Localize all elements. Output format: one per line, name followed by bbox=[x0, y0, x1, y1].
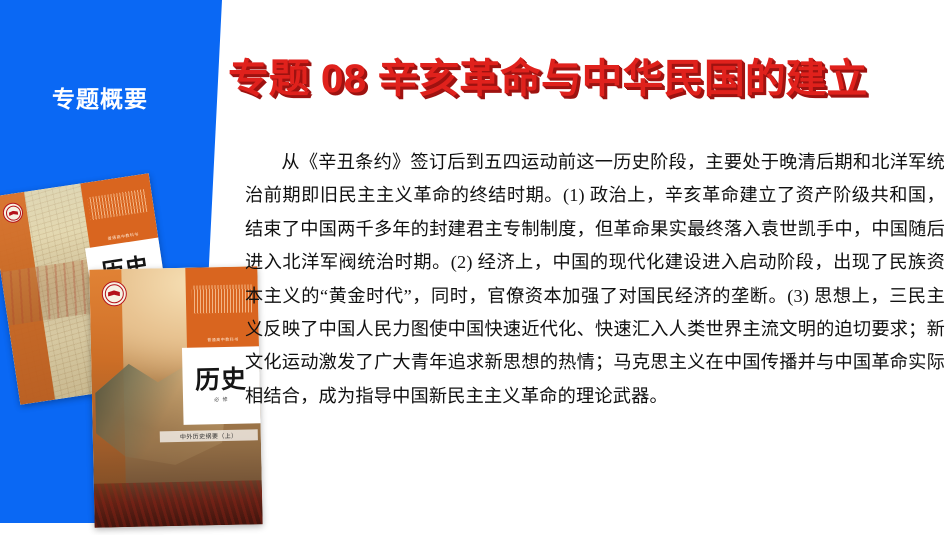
slide-canvas: 专题概要 专题 08 辛亥革命与中华民国的建立 从《辛丑条约》签订后到五四运动前… bbox=[0, 0, 950, 535]
page-title: 专题 08 辛亥革命与中华民国的建立 bbox=[228, 46, 944, 112]
book2-foliage-band bbox=[94, 480, 263, 527]
book2-cover-subtitle: 必 修 bbox=[214, 396, 229, 403]
book2-wave-lines bbox=[191, 285, 252, 314]
book2-series-text: 中外历史纲要（上） bbox=[160, 429, 258, 442]
overview-paragraph: 从《辛丑条约》签订后到五四运动前这一历史阶段，主要处于晚清后期和北洋军统治前期即… bbox=[245, 146, 945, 413]
book2-cover: 普通高中教科书 历史 必 修 中外历史纲要（上） bbox=[89, 266, 262, 527]
book2-cover-title: 历史 bbox=[195, 368, 248, 394]
page-title-text: 专题 08 辛亥革命与中华民国的建立 bbox=[228, 58, 867, 100]
book1-wave-lines bbox=[88, 189, 149, 220]
textbook-cover-compulsory: 普通高中教科书 历史 必 修 中外历史纲要（上） bbox=[89, 266, 262, 527]
book2-inner: 普通高中教科书 历史 必 修 中外历史纲要（上） bbox=[89, 266, 262, 527]
national-textbook-emblem bbox=[101, 281, 127, 307]
section-label: 专题概要 bbox=[52, 88, 182, 111]
